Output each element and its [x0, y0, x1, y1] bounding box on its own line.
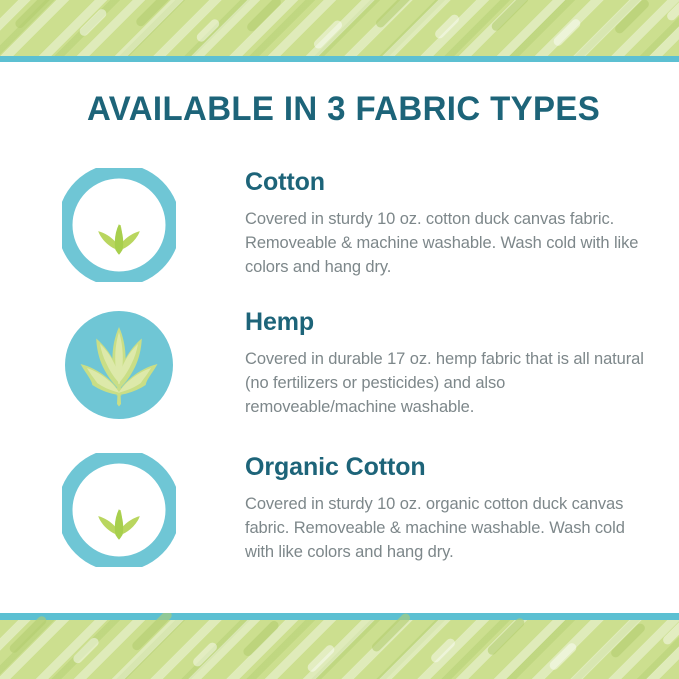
page-title: AVAILABLE IN 3 FABRIC TYPES: [87, 90, 600, 128]
fabric-heading: Hemp: [245, 308, 645, 336]
band-pattern-bottom: [0, 620, 679, 679]
bottom-decorative-band: [0, 613, 679, 679]
hemp-leaf-icon: [62, 308, 176, 422]
fabric-heading: Cotton: [245, 168, 645, 196]
cotton-boll-icon: [62, 453, 176, 567]
infographic-page: AVAILABLE IN 3 FABRIC TYPES Cotton Cover…: [0, 0, 679, 679]
top-decorative-band: [0, 0, 679, 62]
fabric-description: Covered in durable 17 oz. hemp fabric th…: [245, 347, 645, 419]
blue-divider-rule-top: [0, 56, 679, 62]
band-pattern-top: [0, 0, 679, 56]
fabric-text-cotton: Cotton Covered in sturdy 10 oz. cotton d…: [245, 168, 645, 279]
fabric-description: Covered in sturdy 10 oz. cotton duck can…: [245, 207, 645, 279]
cotton-boll-icon: [62, 168, 176, 282]
fabric-heading: Organic Cotton: [245, 453, 645, 481]
fabric-text-organic-cotton: Organic Cotton Covered in sturdy 10 oz. …: [245, 453, 645, 564]
blue-divider-rule-bottom: [0, 613, 679, 620]
fabric-text-hemp: Hemp Covered in durable 17 oz. hemp fabr…: [245, 308, 645, 419]
fabric-description: Covered in sturdy 10 oz. organic cotton …: [245, 492, 645, 564]
